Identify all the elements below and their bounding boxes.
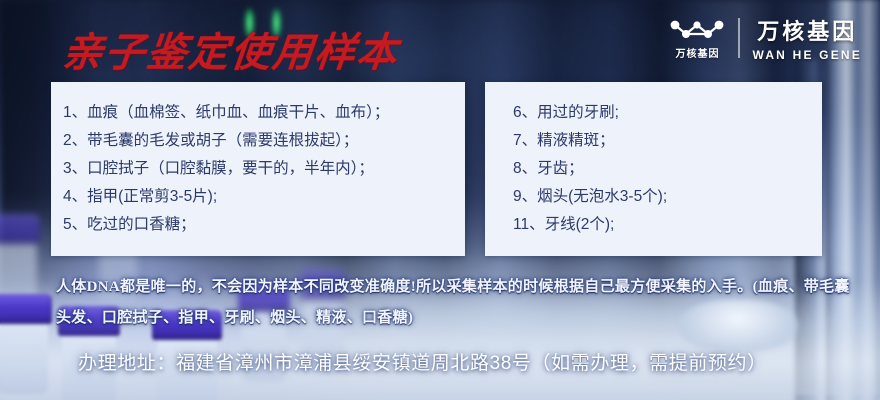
list-item: 7、精液精斑； (513, 127, 822, 155)
list-item: 4、指甲(正常剪3-5片); (63, 183, 465, 211)
sample-list-right: 6、用过的牙刷; 7、精液精斑； 8、牙齿； 9、烟头(无泡水3-5个); 11… (485, 82, 822, 239)
list-item: 5、吃过的口香糖； (63, 211, 465, 239)
list-item: 1、血痕（血棉签、纸巾血、血痕干片、血布）； (63, 99, 465, 127)
sample-list-panel-left: 1、血痕（血棉签、纸巾血、血痕干片、血布）； 2、带毛囊的毛发或胡子（需要连根拔… (51, 82, 465, 256)
sample-list-panel-right: 6、用过的牙刷; 7、精液精斑； 8、牙齿； 9、烟头(无泡水3-5个); 11… (485, 82, 822, 256)
page-title: 亲子鉴定使用样本 (60, 20, 402, 78)
address-line: 办理地址：福建省漳州市漳浦县绥安镇道周北路38号（如需办理，需提前预约） (78, 348, 767, 375)
list-item: 8、牙齿； (513, 155, 822, 183)
brand-logo: 万核基因 万核基因 WAN HE GENE (668, 14, 862, 62)
logo-wordmark: 万核基因 WAN HE GENE (752, 14, 862, 62)
list-item: 11、牙线(2个); (513, 211, 822, 239)
list-item: 2、带毛囊的毛发或胡子（需要连根拔起）； (63, 127, 465, 155)
logo-divider (738, 18, 740, 58)
sample-list-left: 1、血痕（血棉签、纸巾血、血痕干片、血布）； 2、带毛囊的毛发或胡子（需要连根拔… (51, 82, 465, 239)
list-item: 3、口腔拭子（口腔黏膜，要干的，半年内）； (63, 155, 465, 183)
logo-mark-text: 万核基因 (675, 45, 719, 60)
logo-mark: 万核基因 (668, 16, 726, 60)
molecule-network-icon (668, 16, 726, 42)
sample-vial-icon (0, 294, 52, 394)
logo-company-name-en: WAN HE GENE (752, 48, 862, 62)
note-paragraph: 人体DNA都是唯一的，不会因为样本不同改变准确度!所以采集样本的时候根据自己最方… (56, 272, 856, 334)
poster-canvas: 亲子鉴定使用样本 (0, 0, 880, 400)
list-item: 9、烟头(无泡水3-5个); (513, 183, 822, 211)
list-item: 6、用过的牙刷; (513, 99, 822, 127)
logo-company-name-cn: 万核基因 (757, 14, 857, 46)
